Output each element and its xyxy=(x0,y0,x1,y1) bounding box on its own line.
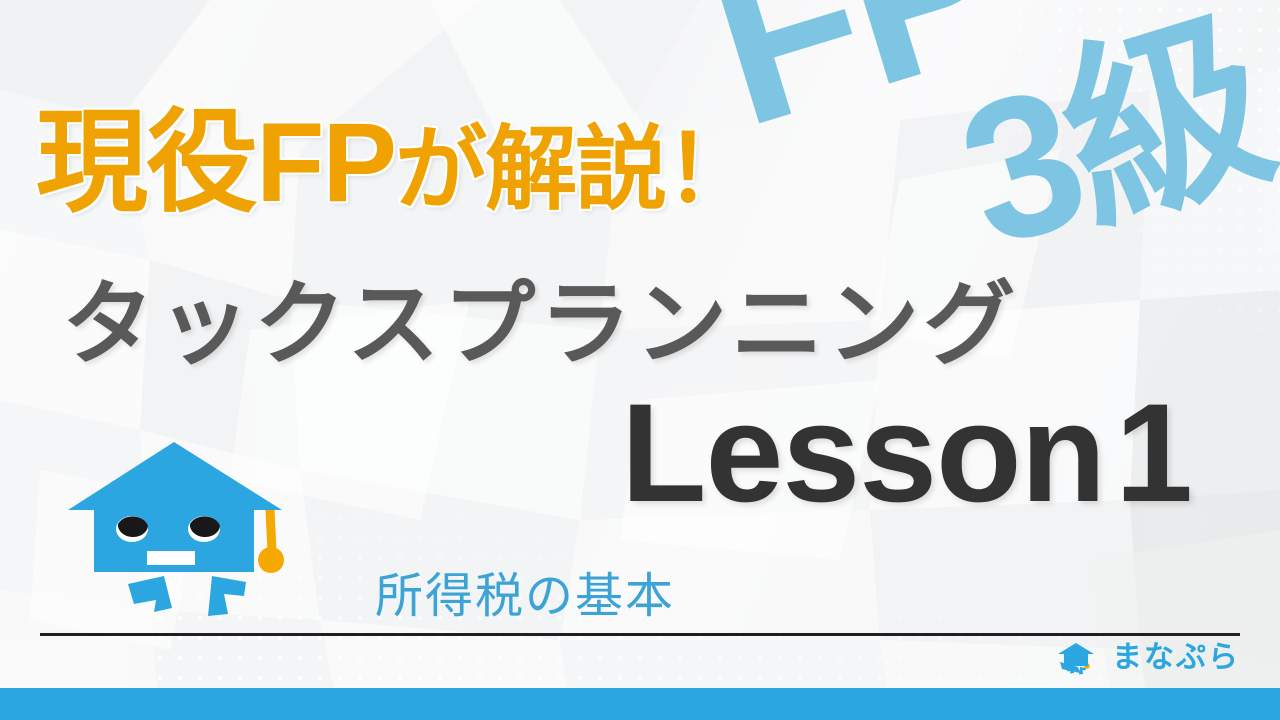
footer-divider xyxy=(40,633,1240,636)
headline-line-2: タックスプランニング xyxy=(62,250,1019,383)
brand-name-text: まなぷら xyxy=(1112,643,1240,673)
headline-sub-text: が解説！ xyxy=(395,119,755,221)
slide-canvas: FP 3級 現役FPが解説！ タックスプランニング Lesson1 所得税の基本 xyxy=(0,0,1280,720)
headline-line-3: Lesson1 xyxy=(621,372,1192,534)
bottom-accent-bar xyxy=(0,688,1280,720)
brand-logo: まなぷら xyxy=(1056,641,1240,675)
graduation-cap-icon xyxy=(1056,641,1102,675)
lesson-number: 1 xyxy=(1115,374,1192,531)
lesson-label: Lesson xyxy=(621,374,1105,531)
graduation-cap-mascot-icon xyxy=(68,424,308,629)
headline-line-1: 現役FPが解説！ xyxy=(36,72,755,234)
headline-lead-text: 現役FP xyxy=(36,100,395,225)
